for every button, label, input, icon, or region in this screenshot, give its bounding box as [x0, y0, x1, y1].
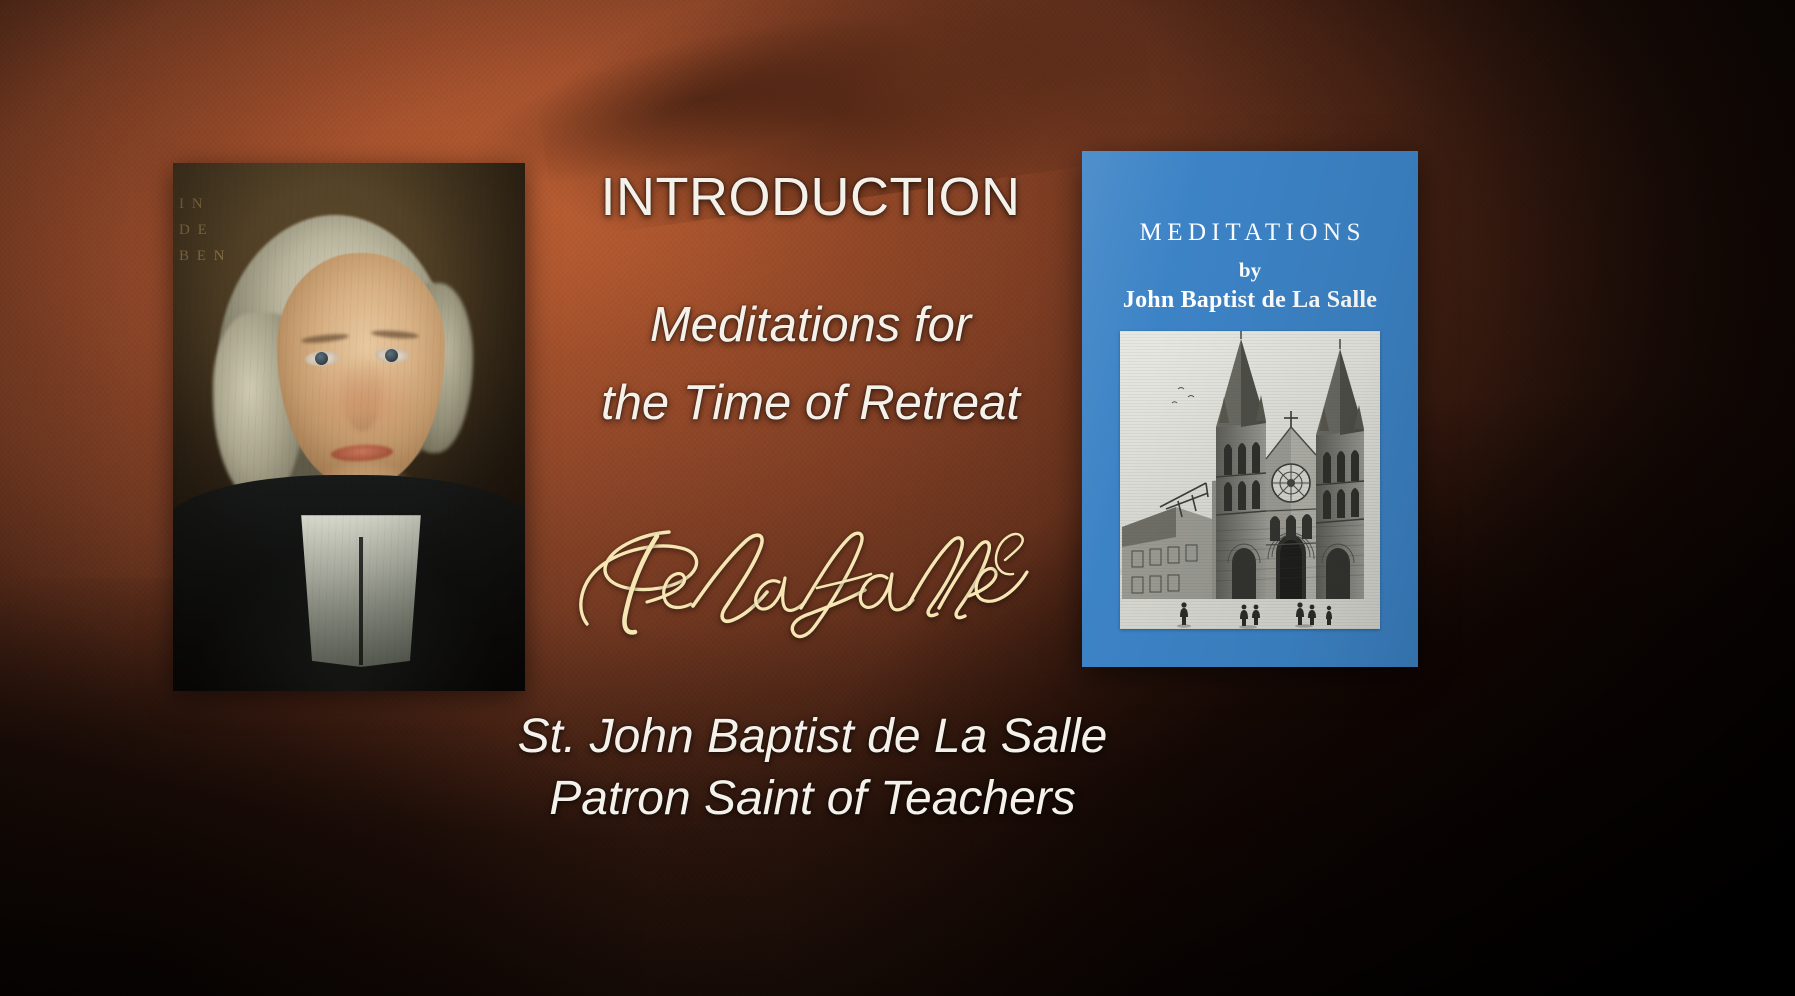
attribution-line-1: St. John Baptist de La Salle: [0, 709, 1710, 764]
book-cover-image: MEDITATIONS by John Baptist de La Salle: [1082, 151, 1418, 667]
subtitle-line-1: Meditations for: [0, 297, 1708, 353]
presentation-slide: I ND EB E N INTRODUCTION Meditations for…: [0, 0, 1795, 996]
attribution-line-2: Patron Saint of Teachers: [0, 771, 1710, 826]
page-title: INTRODUCTION: [0, 166, 1708, 228]
book-cover-sheen: [1082, 151, 1418, 667]
subtitle-line-2: the Time of Retreat: [0, 375, 1708, 431]
